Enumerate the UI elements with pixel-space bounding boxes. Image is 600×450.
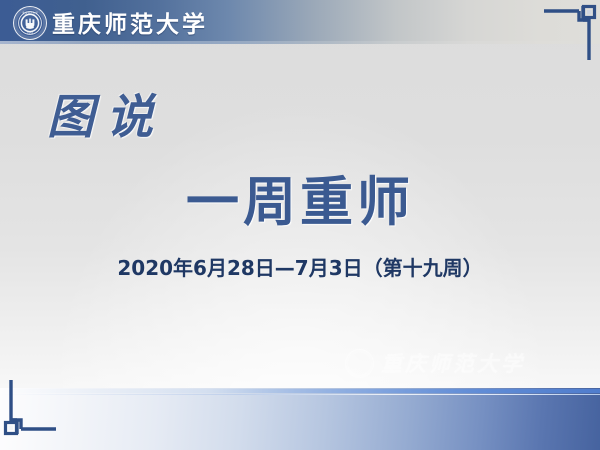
main-title: 一周重师 — [0, 160, 600, 236]
header-university-name: 重庆师范大学 — [52, 4, 208, 40]
svg-text:重庆师范大学: 重庆师范大学 — [22, 11, 38, 15]
watermark-text: 重庆师范大学 — [381, 348, 525, 378]
cursive-title: 图说 — [47, 78, 165, 147]
bottom-highlight-line — [0, 389, 600, 393]
bottom-thin-line — [0, 394, 600, 395]
presentation-slide: 重庆师范大学 1954 重庆师范大学 图说 一周重师 2020年 — [0, 0, 600, 450]
header-band: 重庆师范大学 1954 重庆师范大学 — [0, 0, 600, 44]
bottom-gradient-band — [0, 388, 600, 450]
watermark: 重庆师范大学 — [345, 348, 525, 378]
corner-ornament-top-right-icon — [542, 0, 600, 65]
university-seal-watermark-icon — [345, 349, 374, 378]
date-range-subtitle: 2020年6月28日—7月3日（第十九周） — [0, 252, 600, 281]
corner-ornament-bottom-left-icon — [0, 380, 58, 445]
svg-text:1954: 1954 — [27, 32, 33, 35]
university-seal-icon: 重庆师范大学 1954 — [13, 6, 47, 40]
